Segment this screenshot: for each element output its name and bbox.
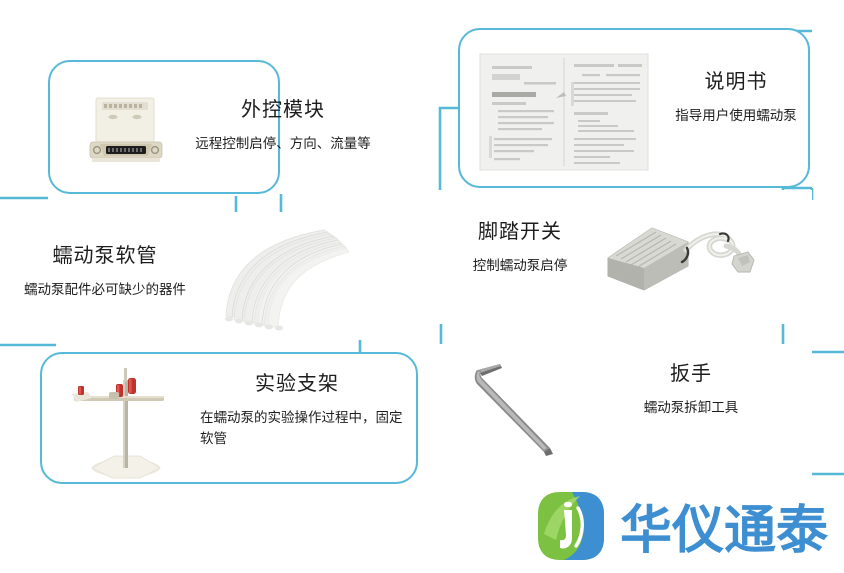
company-logo: 华仪通泰 [520, 488, 836, 568]
card-external-control-module[interactable]: 外控模块 远程控制启停、方向、流量等 [48, 60, 280, 194]
card-text-block-pump-tubing: 蠕动泵软管 蠕动泵配件必可缺少的器件 [0, 244, 220, 301]
lab-stand-photo [62, 358, 184, 484]
hex-key-wrench-photo [458, 354, 578, 466]
card-subtitle-foot-switch: 控制蠕动泵启停 [438, 256, 602, 277]
card-foot-switch[interactable]: 脚踏开关 控制蠕动泵启停 [430, 190, 812, 324]
card-wrench[interactable]: 扳手 蠕动泵拆卸工具 [440, 344, 812, 474]
card-title-foot-switch: 脚踏开关 [438, 220, 602, 244]
infographic-canvas: 外控模块 远程控制启停、方向、流量等 [0, 0, 844, 573]
card-text-block-external-control-module: 外控模块 远程控制启停、方向、流量等 [168, 98, 398, 155]
card-title-pump-tubing: 蠕动泵软管 [0, 244, 220, 268]
logo-wordmark: 华仪通泰 [620, 501, 829, 561]
card-pump-tubing[interactable]: 蠕动泵软管 蠕动泵配件必可缺少的器件 [0, 212, 360, 340]
card-subtitle-external-control-module: 远程控制启停、方向、流量等 [168, 134, 398, 155]
card-title-manual: 说明书 [646, 70, 826, 94]
card-text-block-lab-stand: 实验支架 在蠕动泵的实验操作过程中，固定软管 [182, 372, 412, 450]
foot-switch-photo [594, 214, 756, 306]
card-subtitle-pump-tubing: 蠕动泵配件必可缺少的器件 [0, 280, 220, 301]
card-text-block-foot-switch: 脚踏开关 控制蠕动泵启停 [438, 220, 602, 277]
logo-mark-icon [538, 492, 604, 560]
card-subtitle-lab-stand: 在蠕动泵的实验操作过程中，固定软管 [182, 408, 412, 450]
open-manual-photo [478, 52, 650, 172]
card-lab-stand[interactable]: 实验支架 在蠕动泵的实验操作过程中，固定软管 [40, 352, 418, 484]
card-subtitle-wrench: 蠕动泵拆卸工具 [580, 398, 802, 419]
card-title-external-control-module: 外控模块 [168, 98, 398, 122]
card-title-wrench: 扳手 [580, 362, 802, 386]
db-connector-adapter-photo [80, 84, 172, 176]
silicone-tubing-photo [218, 220, 354, 338]
card-subtitle-manual: 指导用户使用蠕动泵 [646, 106, 826, 127]
card-manual[interactable]: 说明书 指导用户使用蠕动泵 [458, 28, 810, 188]
card-text-block-wrench: 扳手 蠕动泵拆卸工具 [580, 362, 802, 419]
svg-text:华仪通泰: 华仪通泰 [620, 501, 829, 561]
card-title-lab-stand: 实验支架 [182, 372, 412, 396]
card-text-block-manual: 说明书 指导用户使用蠕动泵 [646, 70, 826, 127]
